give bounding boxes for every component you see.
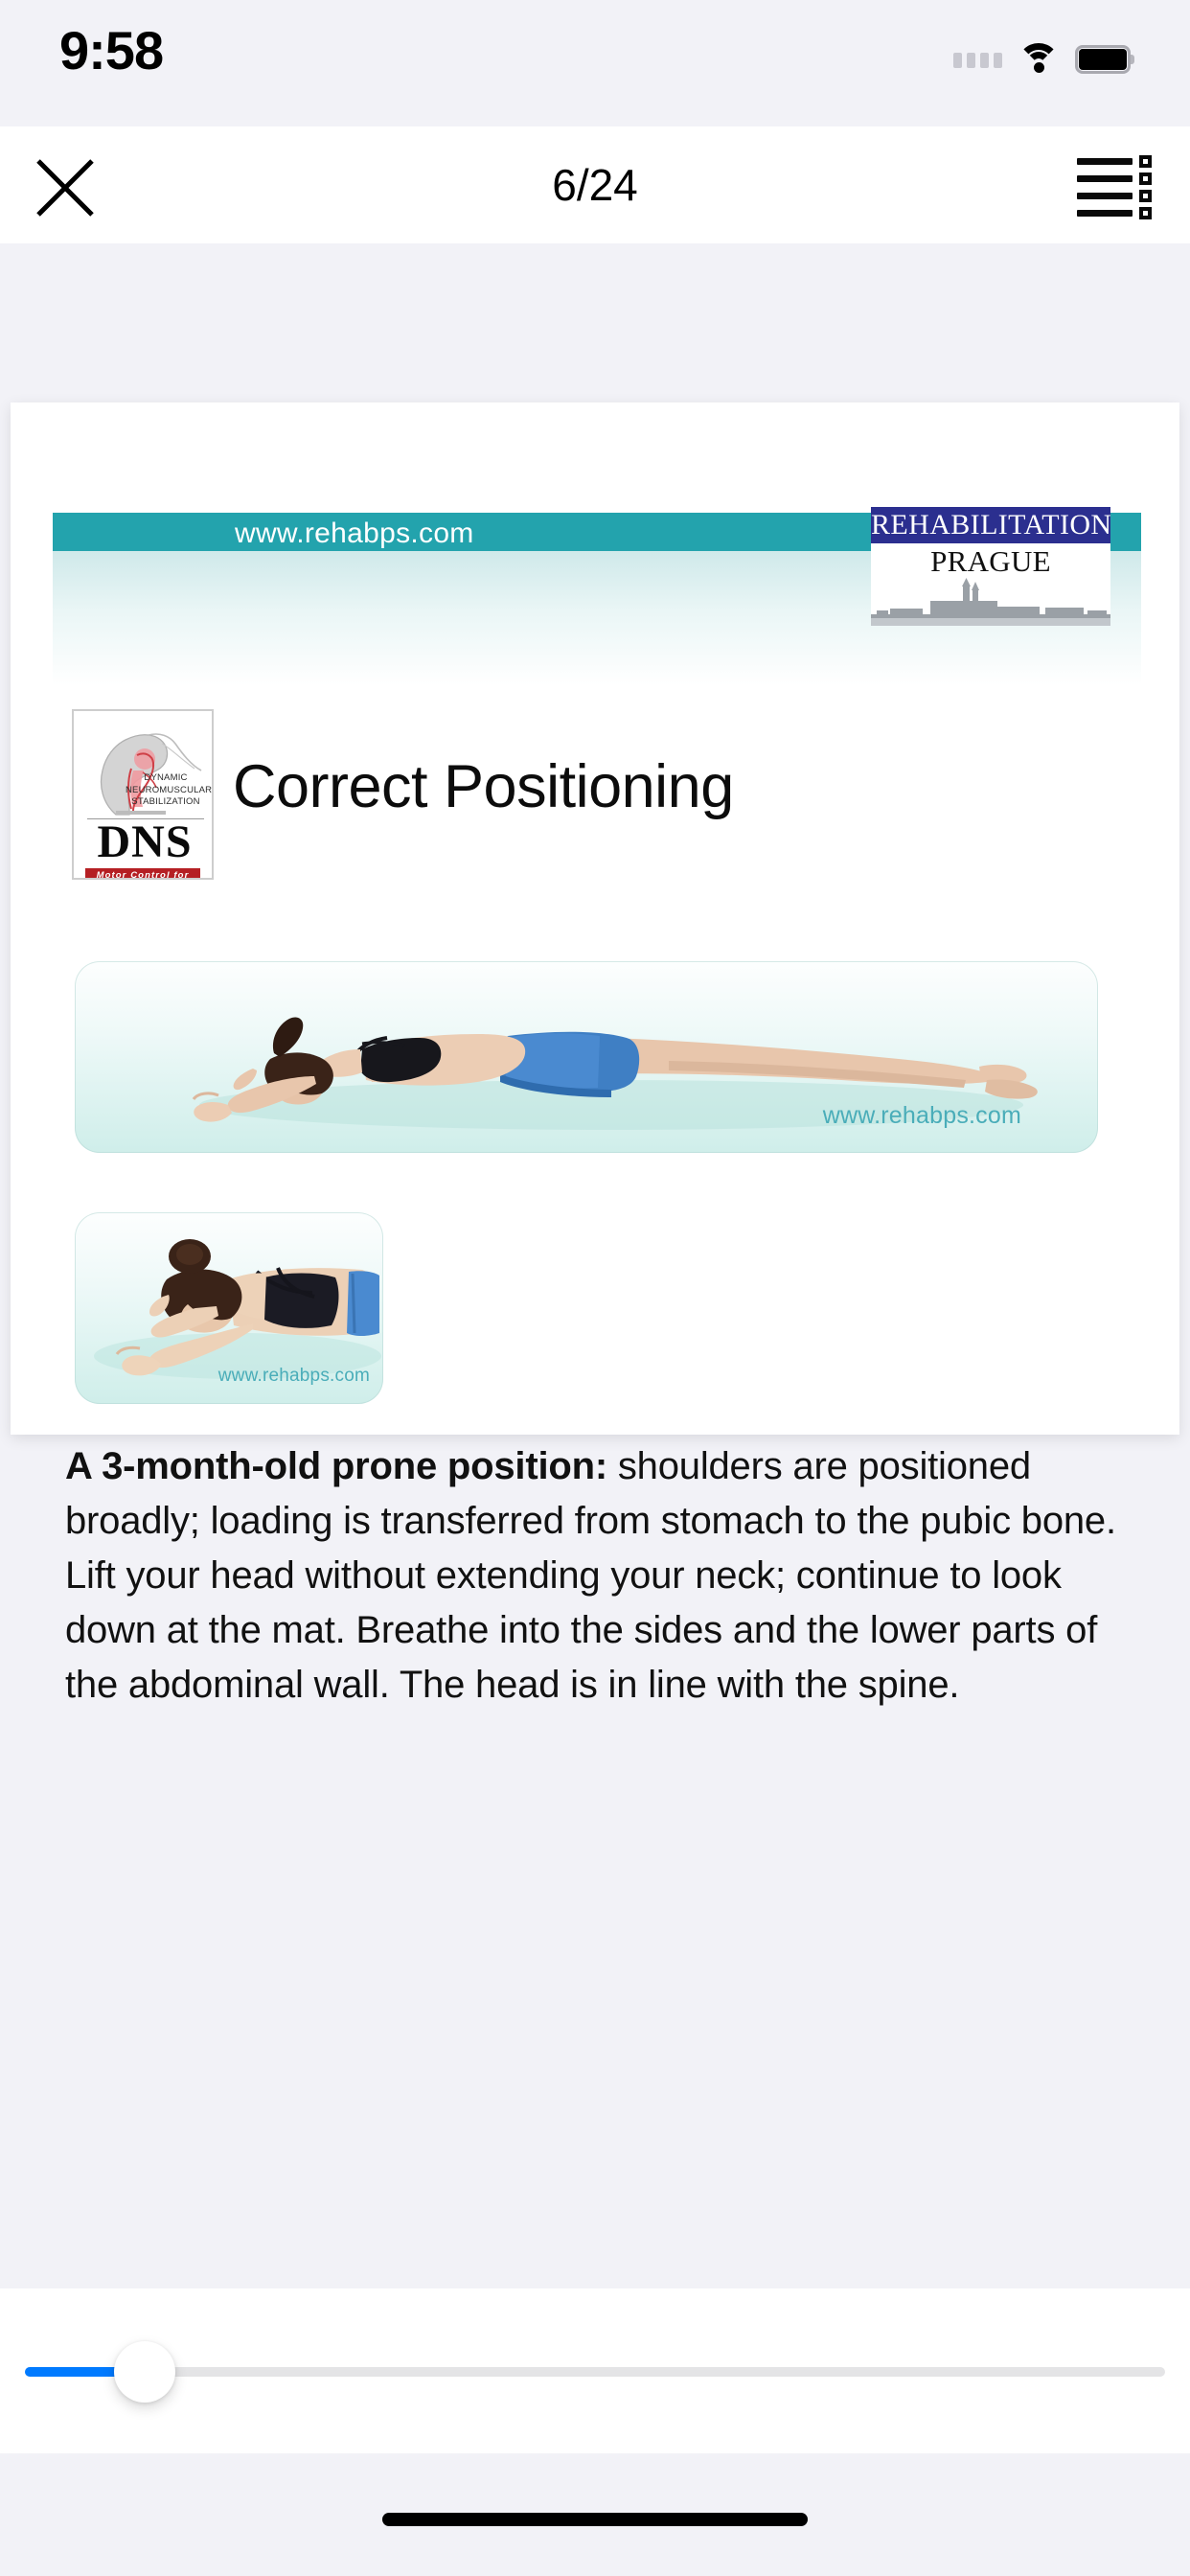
home-indicator-area [0,2453,1190,2576]
status-bar-indicators [953,36,1134,82]
dns-sub-line3: STABILIZATION [126,796,206,809]
battery-full-icon [1075,45,1134,74]
page-slider-area [0,2288,1190,2453]
page-slider-thumb[interactable] [114,2341,175,2403]
rps-logo-line2: PRAGUE SCHOOL [871,543,1110,578]
signal-dots-icon [953,51,1002,68]
slide-card: www.rehabps.com REHABILITATION PRAGUE SC… [11,402,1179,1435]
page-slider-track[interactable] [25,2367,1165,2377]
photo-watermark: www.rehabps.com [823,1102,1021,1130]
list-menu-icon[interactable] [1077,153,1154,222]
dns-tagline: Motor Control for Life [85,868,200,880]
page-counter: 6/24 [0,126,1190,243]
slide-header-url: www.rehabps.com [235,515,474,553]
navigation-bar: 6/24 [0,126,1190,243]
slide-caption: A 3-month-old prone position: shoulders … [65,1439,1129,1713]
status-bar: 9:58 [0,0,1190,126]
wifi-icon [1018,43,1060,76]
status-bar-time: 9:58 [59,21,289,80]
dns-logo: DYNAMIC NEUROMUSCULAR STABILIZATION DNS … [72,709,214,880]
dns-sub-line2: NEUROMUSCULAR [126,785,206,797]
home-indicator-bar[interactable] [382,2513,808,2526]
rehabilitation-prague-school-logo: REHABILITATION PRAGUE SCHOOL [871,507,1110,626]
photo-watermark: www.rehabps.com [218,1366,370,1387]
slide-title: Correct Positioning [233,753,1076,820]
dns-wordmark: DNS [74,818,214,866]
caption-lead: A 3-month-old prone position: [65,1445,607,1487]
app-root: 9:58 6/24 [0,0,1190,2576]
prague-castle-skyline-icon [871,578,1110,626]
dns-logo-subtitle: DYNAMIC NEUROMUSCULAR STABILIZATION [126,772,206,809]
close-icon[interactable] [29,151,102,224]
slide-scroll-area[interactable]: www.rehabps.com REHABILITATION PRAGUE SC… [0,243,1190,2288]
rps-logo-line1: REHABILITATION [871,507,1110,543]
prone-position-full-body-photo: www.rehabps.com [75,961,1098,1153]
slide-header: www.rehabps.com REHABILITATION PRAGUE SC… [53,513,1141,685]
dns-sub-line1: DYNAMIC [126,772,206,785]
prone-position-closeup-photo: www.rehabps.com [75,1212,383,1404]
